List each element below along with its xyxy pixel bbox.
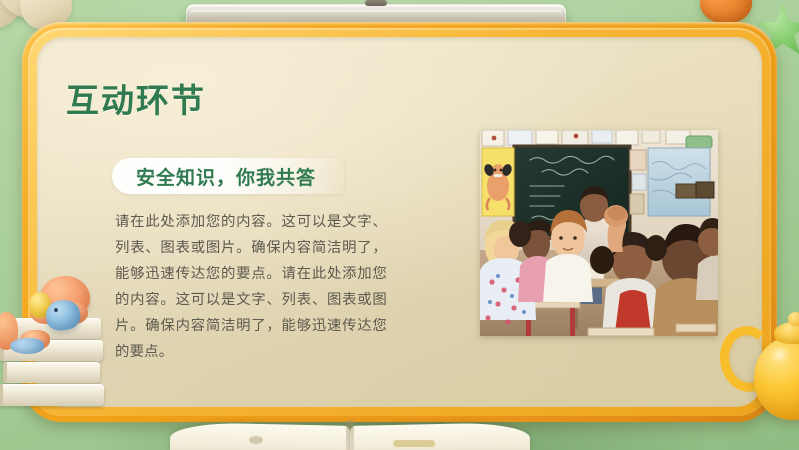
subtitle-banner: 安全知识，你我共答	[112, 158, 344, 194]
subtitle-text: 安全知识，你我共答	[136, 163, 316, 190]
slide-canvas: 互动环节 安全知识，你我共答 请在此处添加您的内容。这可以是文字、列表、图表或图…	[0, 0, 799, 450]
page-title: 互动环节	[66, 74, 206, 122]
bird-eye-icon	[54, 308, 58, 312]
apple-icon	[700, 0, 752, 24]
teapot-decoration	[736, 300, 799, 432]
open-book-decoration	[170, 420, 530, 450]
body-paragraph: 请在此处添加您的内容。这可以是文字、列表、图表或图片。确保内容简洁明了，能够迅速…	[115, 209, 387, 365]
classroom-photo-artwork	[480, 130, 718, 336]
toy-figure-foot-blue	[10, 338, 44, 354]
classroom-photo	[480, 130, 718, 336]
teapot-knob	[788, 312, 799, 326]
